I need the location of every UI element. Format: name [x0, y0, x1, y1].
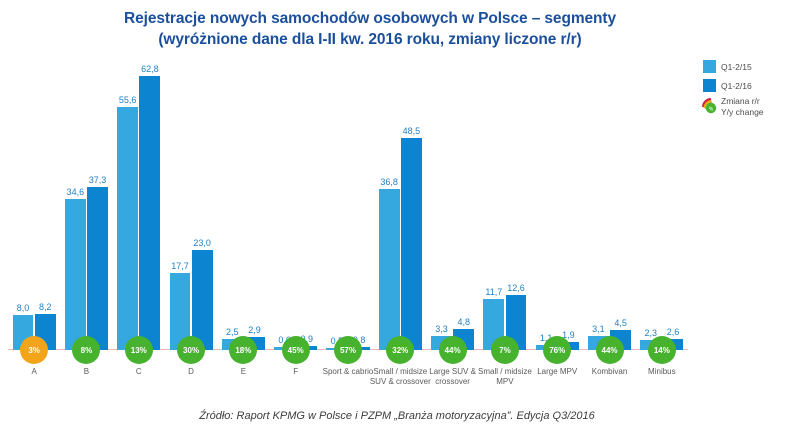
- category-labels-row: ABCDEFSport & cabrioSmall / midsize SUV …: [8, 367, 688, 412]
- bar-value-label-curr: 8,2: [31, 302, 60, 312]
- change-badge: 32%: [386, 336, 414, 364]
- bar-value-label-curr: 48,5: [397, 126, 426, 136]
- legend-label-change: Zmiana r/r Y/y change: [721, 96, 764, 118]
- bar-curr: [139, 76, 160, 350]
- legend-label-curr: Q1-2/16: [721, 81, 752, 91]
- change-badge: 45%: [282, 336, 310, 364]
- chart-title: Rejestracje nowych samochodów osobowych …: [60, 8, 680, 50]
- bar-prev: [65, 199, 86, 350]
- bar-value-label-curr: 23,0: [188, 238, 217, 248]
- legend-swatch-prev: [703, 60, 716, 73]
- bar-value-label-prev: 36,8: [375, 177, 404, 187]
- change-badge: 14%: [648, 336, 676, 364]
- legend-label-change-pl: Zmiana r/r: [721, 96, 760, 106]
- bar-prev: [117, 107, 138, 350]
- change-badge: 44%: [596, 336, 624, 364]
- change-badge-icon: %: [703, 96, 716, 109]
- legend-item-q1-2-15: Q1-2/15: [703, 58, 793, 75]
- change-badge: 18%: [229, 336, 257, 364]
- bar-curr: [87, 187, 108, 350]
- chart-page: Rejestracje nowych samochodów osobowych …: [0, 0, 794, 445]
- change-badge: 57%: [334, 336, 362, 364]
- bar-value-label-curr: 2,9: [240, 325, 269, 335]
- change-badge: 7%: [491, 336, 519, 364]
- bar-curr: [192, 250, 213, 350]
- source-note: Źródło: Raport KPMG w Polsce i PZPM „Bra…: [0, 410, 794, 422]
- change-badge: 8%: [72, 336, 100, 364]
- change-badges-row: 3%8%13%30%18%45%57%32%44%7%76%44%14%: [8, 336, 688, 366]
- legend-label-prev: Q1-2/15: [721, 62, 752, 72]
- bar-value-label-curr: 12,6: [502, 283, 531, 293]
- chart-title-line-2: (wyróżnione dane dla I-II kw. 2016 roku,…: [60, 29, 680, 50]
- category-label: Minibus: [630, 367, 694, 377]
- bar-value-label-curr: 4,5: [606, 318, 635, 328]
- bar-value-label-prev: 34,6: [61, 187, 90, 197]
- chart-title-line-1: Rejestracje nowych samochodów osobowych …: [60, 8, 680, 29]
- bar-prev: [379, 189, 400, 350]
- bar-value-label-curr: 37,3: [83, 175, 112, 185]
- bar-curr: [401, 138, 422, 350]
- change-badge: 30%: [177, 336, 205, 364]
- chart-legend: Q1-2/15 Q1-2/16 % Zmiana r/r Y/y change: [703, 58, 793, 122]
- legend-item-q1-2-16: Q1-2/16: [703, 77, 793, 94]
- legend-label-change-en: Y/y change: [721, 107, 764, 117]
- bar-value-label-curr: 62,8: [135, 64, 164, 74]
- change-badge: 76%: [543, 336, 571, 364]
- change-badge: 13%: [125, 336, 153, 364]
- legend-swatch-curr: [703, 79, 716, 92]
- legend-item-change: % Zmiana r/r Y/y change: [703, 96, 793, 120]
- bar-value-label-prev: 17,7: [166, 261, 195, 271]
- bar-value-label-prev: 55,6: [113, 95, 142, 105]
- plot-area: 8,08,234,637,355,662,817,723,02,52,90,60…: [8, 60, 688, 350]
- svg-text:%: %: [709, 106, 714, 112]
- change-badge: 44%: [439, 336, 467, 364]
- change-badge: 3%: [20, 336, 48, 364]
- bar-value-label-curr: 4,8: [449, 317, 478, 327]
